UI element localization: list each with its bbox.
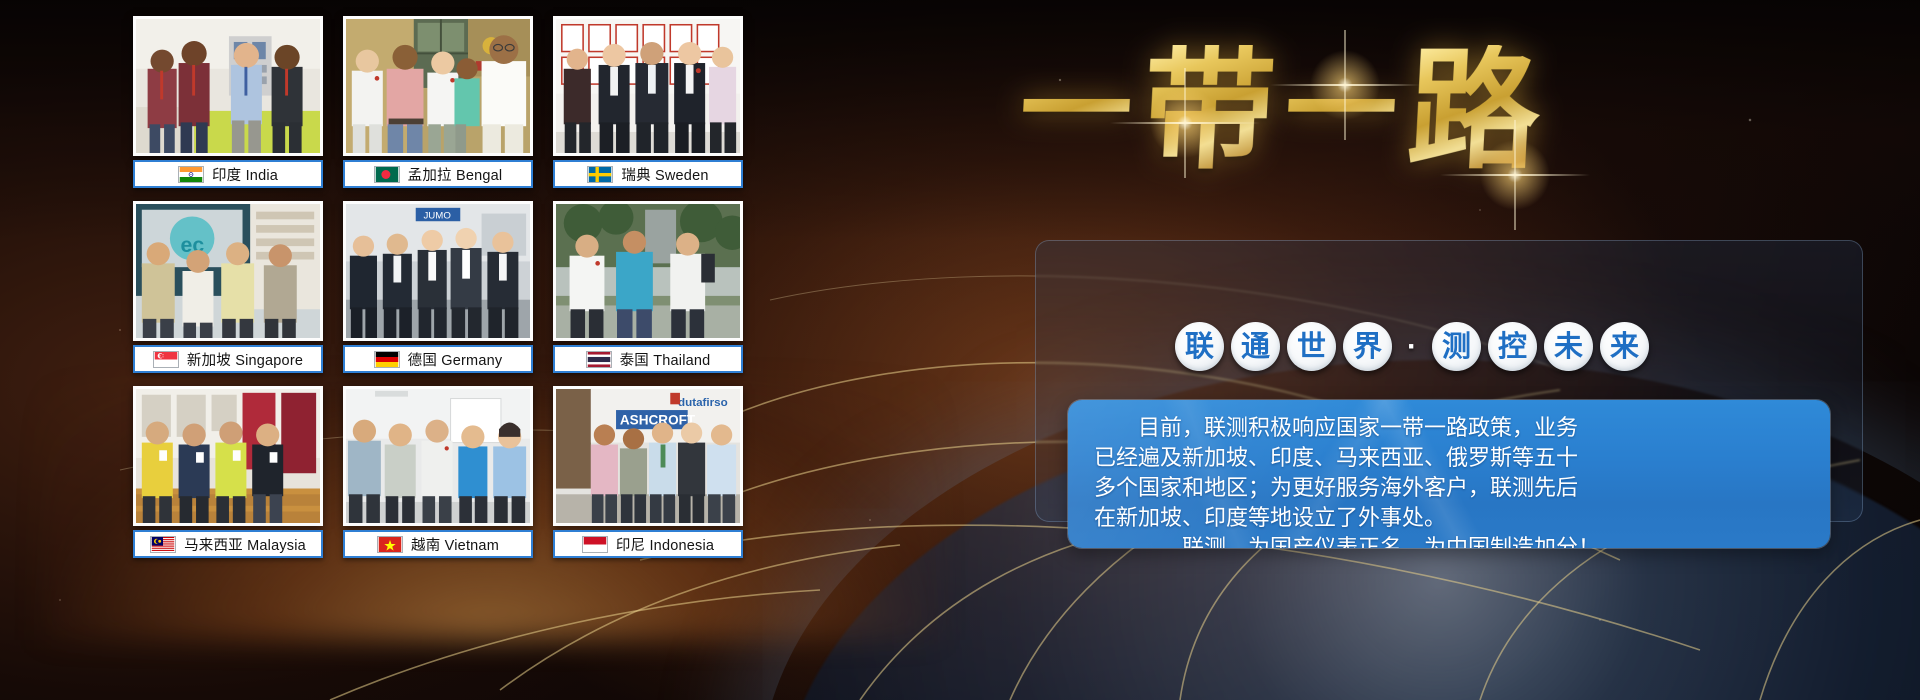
photo-india	[133, 16, 323, 156]
gallery-cell-sweden[interactable]: 瑞典 Sweden	[553, 16, 743, 196]
gallery-cell-germany[interactable]: JUMO	[343, 201, 533, 381]
caption-label: 越南 Vietnam	[411, 534, 499, 555]
gallery-cell-bengal[interactable]: 孟加拉 Bengal	[343, 16, 533, 196]
caption-vietnam[interactable]: 越南 Vietnam	[343, 530, 533, 558]
slogan-medal-4: 界	[1343, 322, 1392, 371]
gallery-cell-vietnam[interactable]: 越南 Vietnam	[343, 386, 533, 566]
photo-thailand	[553, 201, 743, 341]
caption-label: 新加坡 Singapore	[187, 349, 303, 370]
caption-label: 德国 Germany	[408, 349, 503, 370]
gallery-cell-indonesia[interactable]: dutafirso ASHCROFT	[553, 386, 743, 566]
slogan-medal-5: 测	[1432, 322, 1481, 371]
banner-stage: 印度 India	[0, 0, 1920, 700]
photo-singapore: ec	[133, 201, 323, 341]
svg-text:dutafirso: dutafirso	[678, 397, 728, 409]
caption-label: 马来西亚 Malaysia	[184, 534, 306, 555]
slogan-medal-2: 通	[1231, 322, 1280, 371]
flag-vietnam-icon	[377, 536, 403, 553]
slogan-medal-6: 控	[1488, 322, 1537, 371]
slogan-medal-1: 联	[1175, 322, 1224, 371]
gallery-cell-india[interactable]: 印度 India	[133, 16, 323, 196]
flag-sweden-icon	[587, 166, 613, 183]
caption-thailand[interactable]: 泰国 Thailand	[553, 345, 743, 373]
headline-char-2: 带	[1139, 45, 1278, 177]
caption-indonesia[interactable]: 印尼 Indonesia	[553, 530, 743, 558]
headline-char-1: 一	[1017, 55, 1135, 167]
flag-thailand-icon	[586, 351, 612, 368]
slogan-medal-8: 来	[1600, 322, 1649, 371]
photo-malaysia	[133, 386, 323, 526]
description-line-5: 联测，为国产仪表正名，为中国制造加分！	[1094, 534, 1804, 548]
flag-bangladesh-icon	[374, 166, 400, 183]
slogan-separator-dot: ·	[1399, 322, 1425, 371]
photo-indonesia: dutafirso ASHCROFT	[553, 386, 743, 526]
gallery-cell-malaysia[interactable]: 马来西亚 Malaysia	[133, 386, 323, 566]
description-card: 目前，联测积极响应国家一带一路政策，业务 已经遍及新加坡、印度、马来西亚、俄罗斯…	[1068, 400, 1830, 548]
gallery-cell-singapore[interactable]: ec	[133, 201, 323, 381]
gallery-cell-thailand[interactable]: 泰国 Thailand	[553, 201, 743, 381]
caption-singapore[interactable]: 新加坡 Singapore	[133, 345, 323, 373]
headline-char-4: 路	[1405, 45, 1544, 177]
caption-label: 印尼 Indonesia	[616, 534, 714, 555]
description-line-4: 在新加坡、印度等地设立了外事处。	[1094, 504, 1804, 534]
svg-text:JUMO: JUMO	[423, 210, 451, 221]
caption-bengal[interactable]: 孟加拉 Bengal	[343, 160, 533, 188]
caption-label: 瑞典 Sweden	[621, 164, 708, 185]
country-photo-grid: 印度 India	[133, 16, 763, 588]
flag-indonesia-icon	[582, 536, 608, 553]
photo-sweden	[553, 16, 743, 156]
flag-germany-icon	[374, 351, 400, 368]
photo-germany: JUMO	[343, 201, 533, 341]
description-line-1: 目前，联测积极响应国家一带一路政策，业务	[1094, 414, 1804, 444]
slogan-medallions: 联 通 世 界 · 测 控 未 来	[1175, 322, 1649, 371]
flag-singapore-icon	[153, 351, 179, 368]
caption-label: 泰国 Thailand	[620, 349, 711, 370]
headline-calligraphy: 一 带 一 路	[1020, 18, 1540, 203]
flag-malaysia-icon	[150, 536, 176, 553]
slogan-medal-3: 世	[1287, 322, 1336, 371]
caption-india[interactable]: 印度 India	[133, 160, 323, 188]
photo-bengal	[343, 16, 533, 156]
description-line-3: 多个国家和地区；为更好服务海外客户，联测先后	[1094, 474, 1804, 504]
caption-label: 印度 India	[212, 164, 278, 185]
flag-india-icon	[178, 166, 204, 183]
caption-label: 孟加拉 Bengal	[408, 164, 503, 185]
caption-germany[interactable]: 德国 Germany	[343, 345, 533, 373]
photo-vietnam	[343, 386, 533, 526]
description-line-2: 已经遍及新加坡、印度、马来西亚、俄罗斯等五十	[1094, 444, 1804, 474]
caption-sweden[interactable]: 瑞典 Sweden	[553, 160, 743, 188]
caption-malaysia[interactable]: 马来西亚 Malaysia	[133, 530, 323, 558]
headline-char-3: 一	[1282, 55, 1400, 167]
slogan-medal-7: 未	[1544, 322, 1593, 371]
